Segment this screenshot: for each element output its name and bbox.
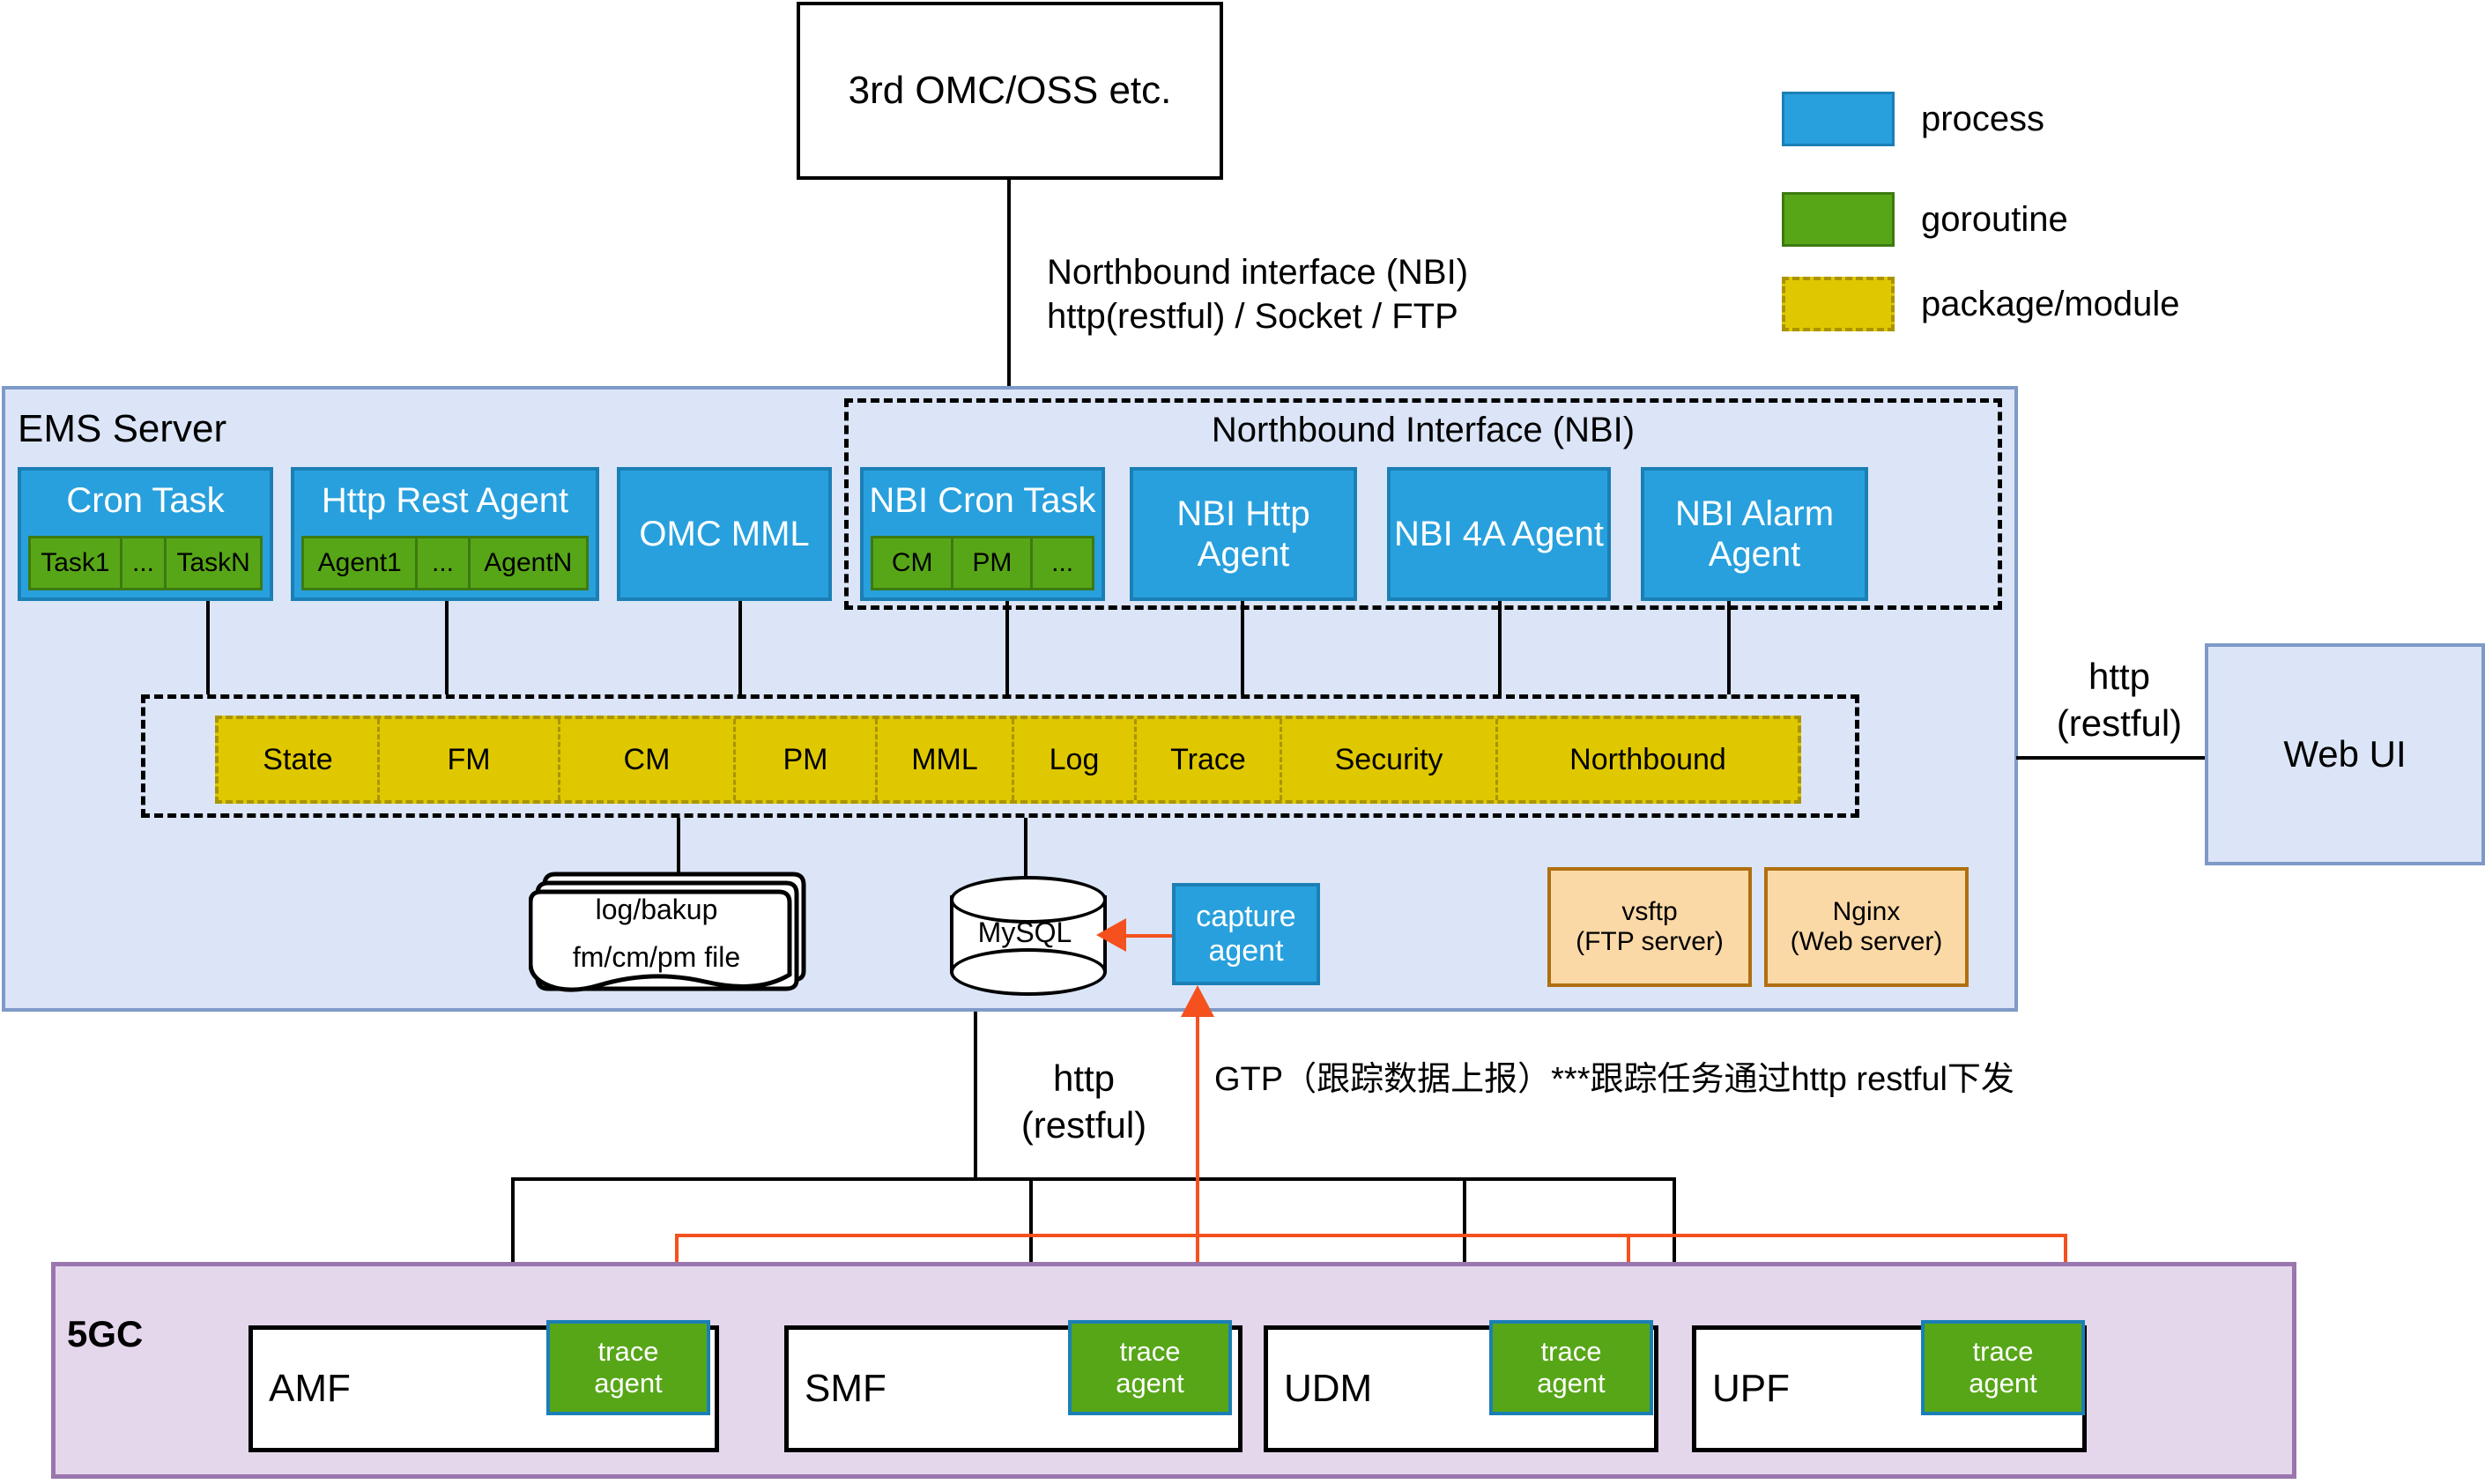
process-nbi-alarm-agent: NBI Alarm Agent bbox=[1641, 467, 1868, 601]
capture-agent-label-line2: agent bbox=[1208, 934, 1283, 968]
trace-agent-amf-line1: trace bbox=[598, 1336, 659, 1368]
goroutine-cell: AgentN bbox=[471, 538, 586, 588]
module-pm: PM bbox=[736, 719, 878, 800]
connector-omc-to-ems bbox=[1007, 180, 1011, 388]
southbound-http-line1: http bbox=[1005, 1056, 1163, 1102]
arrow-gtp-to-capture-agent-head bbox=[1181, 985, 1214, 1017]
connector-omc-mml-to-modules bbox=[738, 601, 742, 694]
trunk-bus-5gc bbox=[511, 1177, 1676, 1181]
trace-agent-upf: trace agent bbox=[1921, 1320, 2085, 1415]
trace-agent-upf-line1: trace bbox=[1973, 1336, 2034, 1368]
process-cron-task: Cron Task Task1 ... TaskN bbox=[18, 467, 273, 601]
process-nbi-http-agent: NBI Http Agent bbox=[1130, 467, 1357, 601]
diagram-canvas: 3rd OMC/OSS etc. Northbound interface (N… bbox=[0, 0, 2485, 1484]
goroutine-cell: Agent1 bbox=[304, 538, 418, 588]
nf-label-upf: UPF bbox=[1712, 1367, 1790, 1411]
process-nbi-cron-task: NBI Cron Task CM PM ... bbox=[860, 467, 1105, 601]
nbi-link-line2: http(restful) / Socket / FTP bbox=[1047, 294, 1468, 338]
vsftp-label-line2: (FTP server) bbox=[1576, 927, 1724, 958]
trace-agent-udm-line1: trace bbox=[1541, 1336, 1602, 1368]
module-security: Security bbox=[1282, 719, 1498, 800]
goroutine-cell: ... bbox=[418, 538, 470, 588]
connector-nbi-alarm-agent-to-modules bbox=[1727, 601, 1731, 694]
nf-label-amf: AMF bbox=[269, 1367, 351, 1411]
southbound-http-label: http (restful) bbox=[1005, 1056, 1163, 1148]
nginx-label-line2: (Web server) bbox=[1791, 927, 1943, 958]
nbi-link-annotation: Northbound interface (NBI) http(restful)… bbox=[1047, 250, 1468, 338]
goroutine-cell: ... bbox=[1033, 538, 1092, 588]
legend-label-goroutine: goroutine bbox=[1921, 192, 2068, 247]
module-fm: FM bbox=[380, 719, 560, 800]
goroutine-cell: Task1 bbox=[31, 538, 122, 588]
process-nbi-alarm-agent-label: NBI Alarm Agent bbox=[1644, 493, 1865, 575]
trace-agent-upf-line2: agent bbox=[1969, 1368, 2037, 1399]
goroutine-cell: CM bbox=[873, 538, 953, 588]
goroutine-cell: ... bbox=[122, 538, 167, 588]
process-nbi-http-agent-label: NBI Http Agent bbox=[1133, 493, 1354, 575]
goroutine-strip-http-rest-agent: Agent1 ... AgentN bbox=[301, 536, 589, 590]
process-http-rest-agent-label: Http Rest Agent bbox=[294, 481, 596, 521]
webui-link-line1: http bbox=[2036, 654, 2203, 701]
process-omc-mml-label: OMC MML bbox=[639, 514, 809, 554]
process-capture-agent: capture agent bbox=[1172, 883, 1320, 985]
nginx-label-line1: Nginx bbox=[1833, 897, 1901, 928]
connector-modules-to-mysql bbox=[1024, 818, 1027, 876]
legend-swatch-goroutine bbox=[1782, 192, 1895, 247]
trace-agent-smf-line1: trace bbox=[1120, 1336, 1181, 1368]
connector-ems-to-webui bbox=[2016, 756, 2210, 760]
process-nbi-cron-task-label: NBI Cron Task bbox=[864, 481, 1102, 521]
trace-agent-udm: trace agent bbox=[1489, 1320, 1653, 1415]
gtp-riser-to-capture-agent bbox=[1196, 1013, 1199, 1253]
nbi-link-line1: Northbound interface (NBI) bbox=[1047, 250, 1468, 294]
connector-cron-task-to-modules bbox=[206, 601, 210, 694]
nbi-container-title: Northbound Interface (NBI) bbox=[844, 407, 2002, 453]
connector-nbi-http-agent-to-modules bbox=[1241, 601, 1244, 694]
goroutine-strip-cron-task: Task1 ... TaskN bbox=[28, 536, 263, 590]
legend-label-process: process bbox=[1921, 92, 2044, 146]
process-nbi-4a-agent-label: NBI 4A Agent bbox=[1394, 514, 1604, 554]
trace-agent-amf: trace agent bbox=[546, 1320, 710, 1415]
mysql-database-icon: MySQL bbox=[950, 876, 1100, 996]
module-northbound: Northbound bbox=[1498, 719, 1798, 800]
goroutine-cell: TaskN bbox=[167, 538, 260, 588]
arrow-capture-to-mysql-head bbox=[1096, 918, 1126, 952]
web-ui-box: Web UI bbox=[2205, 643, 2485, 865]
nginx-server-box: Nginx (Web server) bbox=[1764, 867, 1969, 987]
third-party-omc-oss-box: 3rd OMC/OSS etc. bbox=[797, 2, 1223, 180]
fivegc-title: 5GC bbox=[67, 1313, 143, 1355]
modules-bar: State FM CM PM MML Log Trace Security No… bbox=[215, 716, 1801, 804]
mysql-label: MySQL bbox=[950, 916, 1100, 949]
legend-swatch-package-module bbox=[1782, 277, 1895, 331]
webui-link-line2: (restful) bbox=[2036, 701, 2203, 747]
nf-label-udm: UDM bbox=[1284, 1367, 1372, 1411]
trace-agent-amf-line2: agent bbox=[594, 1368, 663, 1399]
ems-server-title: EMS Server bbox=[18, 407, 226, 451]
southbound-http-line2: (restful) bbox=[1005, 1102, 1163, 1149]
legend-label-package-module: package/module bbox=[1921, 277, 2180, 331]
trace-agent-smf: trace agent bbox=[1068, 1320, 1232, 1415]
legend-swatch-process bbox=[1782, 92, 1895, 146]
webui-link-label: http (restful) bbox=[2036, 654, 2203, 746]
goroutine-cell: PM bbox=[953, 538, 1033, 588]
module-trace: Trace bbox=[1137, 719, 1282, 800]
third-party-omc-oss-label: 3rd OMC/OSS etc. bbox=[849, 69, 1172, 114]
file-stack-label-line2: fm/cm/pm file bbox=[529, 939, 784, 975]
process-http-rest-agent: Http Rest Agent Agent1 ... AgentN bbox=[291, 467, 599, 601]
connector-ems-to-5gc-trunk bbox=[974, 1012, 977, 1177]
trace-agent-udm-line2: agent bbox=[1537, 1368, 1606, 1399]
connector-nbi-4a-agent-to-modules bbox=[1498, 601, 1502, 694]
vsftp-label-line1: vsftp bbox=[1621, 897, 1677, 928]
process-omc-mml: OMC MML bbox=[617, 467, 832, 601]
module-state: State bbox=[219, 719, 380, 800]
trace-agent-smf-line2: agent bbox=[1116, 1368, 1184, 1399]
module-cm: CM bbox=[560, 719, 736, 800]
connector-http-rest-agent-to-modules bbox=[445, 601, 449, 694]
module-mml: MML bbox=[878, 719, 1014, 800]
capture-agent-label-line1: capture bbox=[1196, 900, 1295, 934]
gtp-note-label: GTP（跟踪数据上报）***跟踪任务通过http restful下发 bbox=[1214, 1059, 2014, 1102]
process-cron-task-label: Cron Task bbox=[21, 481, 270, 521]
file-stack-label-line1: log/bakup bbox=[529, 892, 784, 927]
nf-label-smf: SMF bbox=[805, 1367, 886, 1411]
connector-nbi-cron-task-to-modules bbox=[1005, 601, 1009, 694]
goroutine-strip-nbi-cron-task: CM PM ... bbox=[871, 536, 1094, 590]
vsftp-server-box: vsftp (FTP server) bbox=[1547, 867, 1752, 987]
web-ui-label: Web UI bbox=[2283, 733, 2406, 775]
module-log: Log bbox=[1014, 719, 1137, 800]
orange-trace-bus bbox=[675, 1234, 2067, 1237]
process-nbi-4a-agent: NBI 4A Agent bbox=[1387, 467, 1611, 601]
